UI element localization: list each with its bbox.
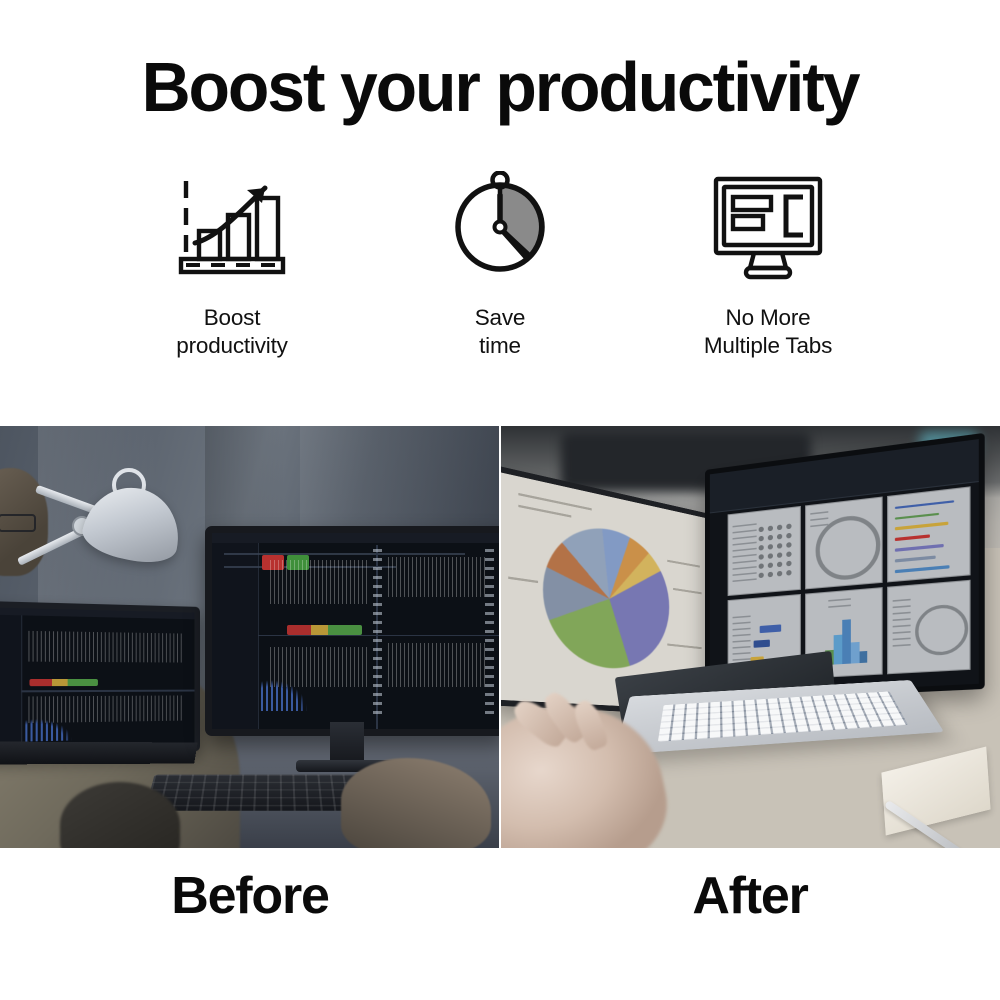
panel-text-lines <box>732 616 750 662</box>
feature-label-line-1: No More <box>726 305 811 330</box>
feature-label-no-more-tabs: No More Multiple Tabs <box>704 304 832 360</box>
trading-terminal-screen <box>212 533 499 729</box>
monitor-screen-icon <box>702 168 834 286</box>
indicator-bar <box>287 625 362 635</box>
line-chart <box>385 557 489 597</box>
before-photo <box>0 426 499 848</box>
pie-label <box>508 576 538 583</box>
before-laptop-base <box>0 742 198 765</box>
panel-title-lines <box>828 598 851 613</box>
feature-item-boost-productivity: Boost productivity <box>98 168 366 360</box>
caption-after: After <box>500 866 1000 926</box>
before-after-photo-band <box>0 426 1000 848</box>
line-chart <box>385 643 489 687</box>
list-row <box>895 535 931 541</box>
dot-matrix-panel <box>727 506 801 596</box>
before-monitor-screen <box>205 526 499 736</box>
feature-label-line-2: time <box>479 333 521 358</box>
after-photo <box>501 426 1000 848</box>
colored-rows <box>895 499 964 573</box>
feature-list: Boost productivity Save <box>0 168 1000 360</box>
list-row <box>895 512 939 519</box>
list-row <box>895 522 949 530</box>
feature-label-line-2: Multiple Tabs <box>704 333 832 358</box>
eyeglasses <box>0 514 36 532</box>
after-keyboard <box>658 692 908 742</box>
terminal-row <box>224 553 466 555</box>
comparison-captions: Before After <box>0 866 1000 926</box>
color-list-panel <box>887 487 970 583</box>
list-row <box>895 500 954 509</box>
caption-before: Before <box>0 866 500 926</box>
feature-label-line-2: productivity <box>176 333 287 358</box>
panel-title-lines <box>810 511 828 528</box>
trading-terminal-screen <box>0 607 195 751</box>
pie-chart <box>543 517 669 673</box>
scatter-dots <box>756 521 795 580</box>
bar <box>859 651 868 663</box>
candlestick-chart <box>267 560 371 604</box>
bar <box>842 620 851 664</box>
bar <box>834 635 842 664</box>
volume-histogram <box>26 716 111 742</box>
indicator-bar <box>30 679 98 686</box>
page-title: Boost your productivity <box>15 52 985 122</box>
gantt-bar <box>760 625 781 634</box>
donut-panel-one <box>805 497 883 590</box>
terminal-sidebar <box>0 614 22 750</box>
feature-label-line-1: Boost <box>204 305 261 330</box>
pie-label <box>667 560 700 568</box>
pie-label <box>667 643 701 649</box>
list-row <box>895 556 936 562</box>
donut-chart <box>915 603 968 657</box>
feature-label-save-time: Save time <box>475 304 525 360</box>
panel-text-lines <box>732 524 756 583</box>
donut-panel-two <box>887 580 970 674</box>
gantt-bar <box>753 640 770 648</box>
monitor-neck <box>330 722 364 764</box>
feature-label-line-1: Save <box>475 305 525 330</box>
before-laptop-screen <box>0 601 200 757</box>
terminal-sidebar <box>212 543 259 729</box>
panel-text-lines <box>893 598 910 647</box>
pie-label <box>673 588 702 594</box>
slide-subtitle <box>518 505 571 518</box>
dashboard-grid <box>727 487 970 683</box>
volume-histogram <box>261 677 347 711</box>
price-chart <box>26 631 183 663</box>
list-row <box>895 544 944 551</box>
feature-item-no-more-tabs: No More Multiple Tabs <box>634 168 902 360</box>
feature-item-save-time: Save time <box>366 168 634 360</box>
list-row <box>895 565 950 572</box>
bar <box>851 642 860 663</box>
feature-label-boost-productivity: Boost productivity <box>176 304 287 360</box>
price-scale <box>373 549 382 718</box>
stopwatch-icon <box>446 168 554 286</box>
bar-chart-growth-icon <box>173 168 291 286</box>
panel-divider <box>21 690 194 692</box>
